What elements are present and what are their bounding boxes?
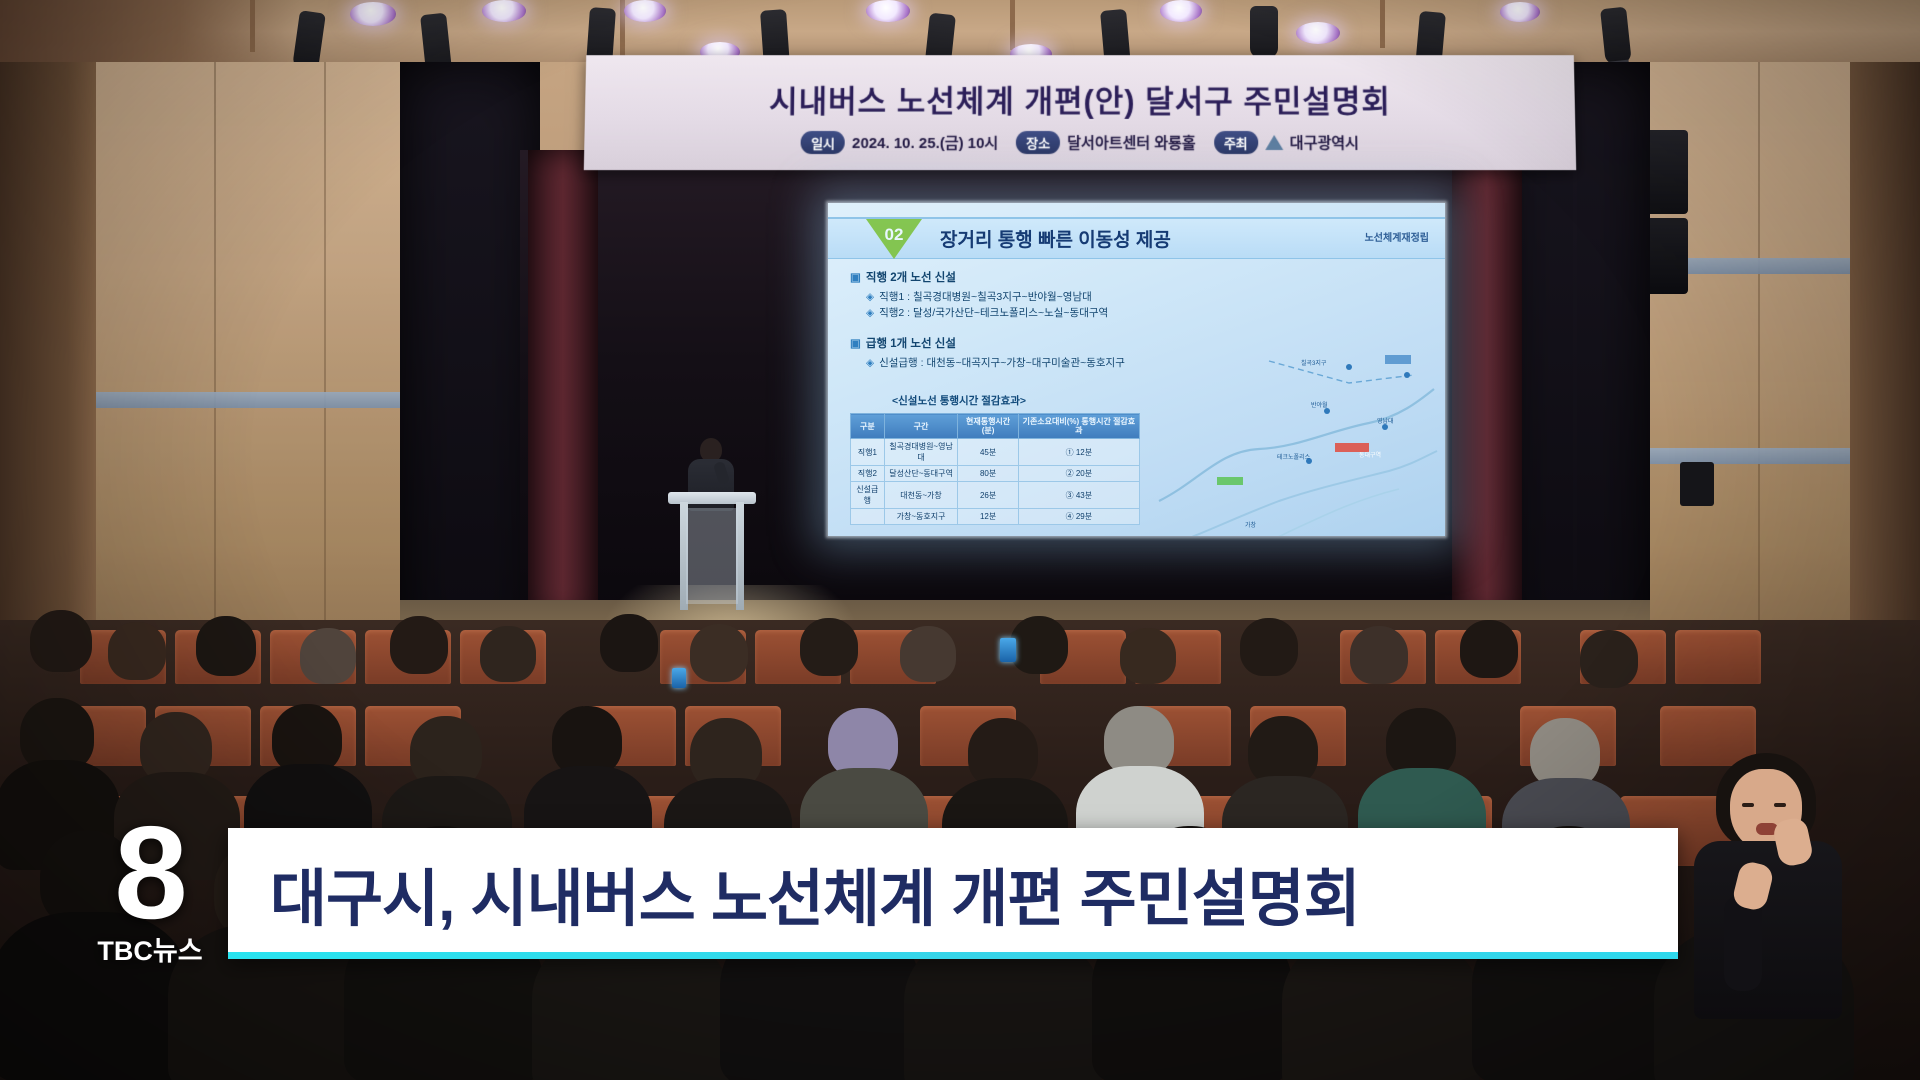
- wall-stripe: [70, 392, 410, 408]
- ceiling-shadow: [0, 0, 300, 70]
- slide-body: ▣직행 2개 노선 신설 ◈직행1 : 칠곡경대병원~칠곡3지구~반야월~영남대…: [828, 265, 1445, 536]
- lower-third-accent-bar: [228, 952, 1678, 959]
- table-cell: ③ 43분: [1018, 482, 1139, 509]
- table-cell: 대천동~가창: [884, 482, 958, 509]
- stage-light: [1296, 22, 1340, 44]
- audience-member: [390, 616, 448, 674]
- banner-label-host: 주최: [1214, 131, 1258, 154]
- audience-member: [1010, 616, 1068, 674]
- stage-light: [624, 0, 666, 22]
- audience-member: [1240, 618, 1298, 676]
- stage-drape-left: [400, 62, 540, 662]
- table-row: 신설급행 대천동~가창 26분 ③ 43분: [851, 482, 1140, 509]
- audience-member: [1350, 626, 1408, 684]
- table-header-cell: 현재통행시간(분): [958, 414, 1018, 439]
- network-brand-label: TBC뉴스: [97, 929, 202, 968]
- wall-panel: [96, 62, 216, 702]
- audience-member: [690, 624, 748, 682]
- lectern: [676, 492, 748, 610]
- svg-text:테크노폴리스: 테크노폴리스: [1277, 453, 1311, 461]
- table-cell: ① 12분: [1018, 439, 1139, 466]
- bullet-marker-icon: ◈: [866, 307, 874, 319]
- svg-text:칠곡3지구: 칠곡3지구: [1301, 359, 1327, 367]
- audience-member: [1580, 630, 1638, 688]
- stage-spotlight: [1250, 6, 1278, 58]
- svg-text:반야월: 반야월: [1311, 401, 1328, 409]
- stage-light: [866, 0, 910, 22]
- stage-light: [350, 2, 396, 26]
- auditorium-seat: [1675, 630, 1761, 684]
- table-cell: [851, 509, 885, 525]
- table-header-cell: 구분: [851, 414, 885, 439]
- table-cell: ② 20분: [1018, 466, 1139, 482]
- table-cell: 신설급행: [851, 482, 885, 509]
- lighting-truss: [250, 0, 255, 52]
- table-cell: 직행1: [851, 439, 885, 466]
- wall-panel: [1760, 62, 1860, 702]
- stage-curtain-left: [528, 150, 598, 620]
- audience-member: [800, 618, 858, 676]
- audience-member: [600, 614, 658, 672]
- event-banner-title: 시내버스 노선체계 개편(안) 달서구 주민설명회: [769, 76, 1391, 121]
- slide-bullet-sub: ◈신설급행 : 대천동~대곡지구~가창~대구미술관~동호지구: [866, 355, 1125, 370]
- table-header-cell: 기존소요대비(%) 통행시간 절감효과: [1018, 414, 1139, 439]
- lighting-truss: [1010, 0, 1015, 50]
- slide-route-map: 칠곡3지구 반야월 영남대 테크노폴리스 동대구역 가창: [1149, 331, 1441, 536]
- slide-table: 구분 구간 현재통행시간(분) 기존소요대비(%) 통행시간 절감효과 직행1 …: [850, 413, 1140, 525]
- wall-right-shadow: [1850, 62, 1920, 702]
- slide-bullet-head: ▣직행 2개 노선 신설: [850, 269, 956, 285]
- slide-table-caption: <신설노선 통행시간 절감효과>: [892, 393, 1026, 408]
- audience-member: [480, 626, 536, 682]
- stage-light: [1500, 2, 1540, 22]
- audience-phone-screen: [1000, 638, 1016, 662]
- audience-member: [1120, 628, 1176, 684]
- slide-section-title: 장거리 통행 빠른 이동성 제공: [940, 225, 1171, 252]
- audience-member: [108, 622, 166, 680]
- channel-number: 8: [114, 812, 185, 933]
- slide-bullet-sub: ◈직행2 : 달성/국가산단~테크노폴리스~노실~동대구역: [866, 305, 1108, 320]
- audience-member: [300, 628, 356, 684]
- audience-member: [1460, 620, 1518, 678]
- table-cell: 80분: [958, 466, 1018, 482]
- projection-screen: 02 장거리 통행 빠른 이동성 제공 노선체계재정립 ▣직행 2개 노선 신설…: [828, 203, 1445, 536]
- audience-phone-screen: [672, 668, 686, 688]
- slide-header: 02 장거리 통행 빠른 이동성 제공: [828, 217, 1445, 259]
- banner-value-place: 달서아트센터 와룡홀: [1067, 132, 1196, 153]
- slide-section-badge: 02: [866, 219, 922, 259]
- svg-text:가창: 가창: [1245, 521, 1257, 529]
- banner-value-date: 2024. 10. 25.(금) 10시: [852, 132, 998, 153]
- banner-label-place: 장소: [1016, 131, 1060, 154]
- stage-light: [482, 0, 526, 22]
- stage-light: [1160, 0, 1202, 22]
- stage-curtain-right: [1452, 150, 1522, 620]
- banner-value-host: 대구광역시: [1290, 132, 1359, 153]
- lower-third-banner: 대구시, 시내버스 노선체계 개편 주민설명회: [228, 828, 1678, 958]
- daegu-crest-icon: [1265, 135, 1283, 150]
- bullet-marker-icon: ▣: [850, 338, 861, 350]
- audience-member: [900, 626, 956, 682]
- lighting-truss: [1380, 0, 1385, 48]
- bullet-marker-icon: ◈: [866, 291, 874, 303]
- table-row: 가창~동호지구 12분 ④ 29분: [851, 509, 1140, 525]
- wall-panel: [216, 62, 326, 702]
- table-cell: 가창~동호지구: [884, 509, 958, 525]
- slide-corner-tag: 노선체계재정립: [1365, 229, 1429, 244]
- sign-language-interpreter: [1680, 745, 1855, 1080]
- table-row: 직행1 칠곡경대병원~영남대 45분 ① 12분: [851, 439, 1140, 466]
- table-header-cell: 구간: [884, 414, 958, 439]
- svg-text:영남대: 영남대: [1377, 417, 1394, 425]
- table-cell: ④ 29분: [1018, 509, 1139, 525]
- bullet-marker-icon: ▣: [850, 272, 861, 284]
- table-header-row: 구분 구간 현재통행시간(분) 기존소요대비(%) 통행시간 절감효과: [851, 414, 1140, 439]
- network-logo: 8 TBC뉴스: [70, 812, 230, 992]
- slide-bullet-head: ▣급행 1개 노선 신설: [850, 335, 956, 351]
- wall-panel: [326, 62, 406, 702]
- table-cell: 12분: [958, 509, 1018, 525]
- slide-section-number: 02: [866, 219, 922, 259]
- loudspeaker: [1680, 462, 1714, 506]
- event-banner-details: 일시 2024. 10. 25.(금) 10시 장소 달서아트센터 와룡홀 주최…: [801, 131, 1359, 154]
- banner-label-date: 일시: [801, 131, 845, 154]
- wall-left-shadow: [0, 62, 96, 702]
- route-map-graphic: 칠곡3지구 반야월 영남대 테크노폴리스 동대구역 가창: [1149, 331, 1441, 536]
- table-cell: 칠곡경대병원~영남대: [884, 439, 958, 466]
- table-cell: 달성산단~동대구역: [884, 466, 958, 482]
- table-cell: 직행2: [851, 466, 885, 482]
- table-cell: 45분: [958, 439, 1018, 466]
- audience-member: [196, 616, 256, 676]
- interpreter-eye: [1774, 803, 1786, 807]
- broadcast-frame: 시내버스 노선체계 개편(안) 달서구 주민설명회 일시 2024. 10. 2…: [0, 0, 1920, 1080]
- table-cell: 26분: [958, 482, 1018, 509]
- table-row: 직행2 달성산단~동대구역 80분 ② 20분: [851, 466, 1140, 482]
- slide-bullet-sub: ◈직행1 : 칠곡경대병원~칠곡3지구~반야월~영남대: [866, 289, 1092, 304]
- lectern-panel: [686, 508, 738, 604]
- news-headline: 대구시, 시내버스 노선체계 개편 주민설명회: [270, 848, 1360, 938]
- event-banner: 시내버스 노선체계 개편(안) 달서구 주민설명회 일시 2024. 10. 2…: [584, 55, 1576, 170]
- bullet-marker-icon: ◈: [866, 357, 874, 369]
- svg-text:동대구역: 동대구역: [1359, 451, 1381, 459]
- audience-member: [30, 610, 92, 672]
- interpreter-eye: [1742, 803, 1754, 807]
